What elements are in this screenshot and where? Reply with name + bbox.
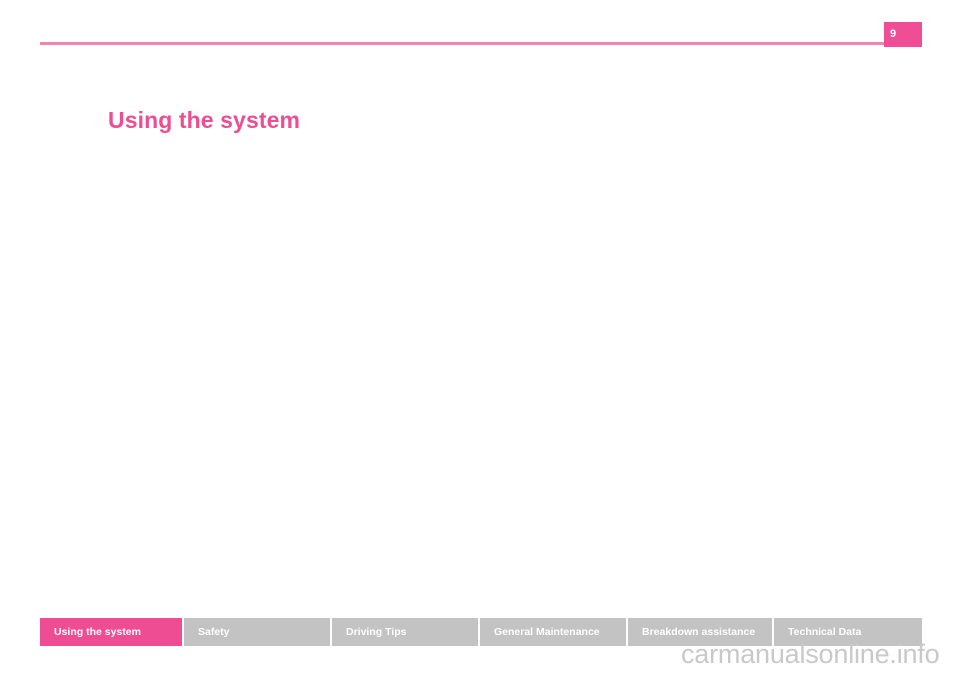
nav-tab-general-maintenance[interactable]: General Maintenance [480,618,628,646]
nav-tab-safety[interactable]: Safety [184,618,332,646]
page-title: Using the system [108,107,300,134]
page-content-area [40,135,922,605]
watermark-text: carmanualsonline.info [681,639,939,670]
page-number-badge: 9 [884,22,922,47]
nav-tab-driving-tips[interactable]: Driving Tips [332,618,480,646]
nav-tab-using-the-system[interactable]: Using the system [40,618,184,646]
manual-page: 9 Using the system Using the system Safe… [0,0,960,673]
page-header: 9 [0,0,960,60]
header-divider-rule [40,42,902,45]
